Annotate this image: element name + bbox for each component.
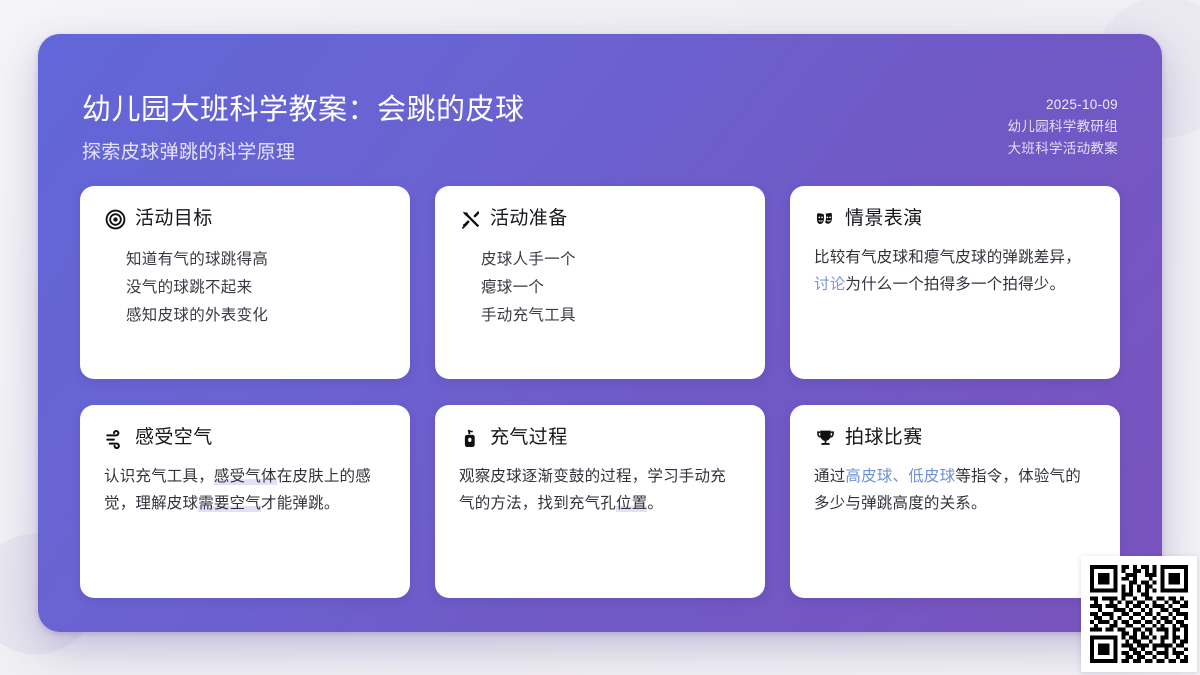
- header-title-block: 幼儿园大班科学教案：会跳的皮球 探索皮球弹跳的科学原理: [82, 78, 525, 164]
- qr-code-panel[interactable]: [1081, 556, 1197, 672]
- meta-organization: 幼儿园科学教研组: [1008, 116, 1118, 138]
- card-header: 情景表演: [814, 208, 1096, 230]
- list-item: 知道有气的球跳得高: [126, 246, 386, 274]
- card-header: 活动目标: [104, 208, 386, 230]
- wind-icon: [104, 427, 126, 449]
- page-title: 幼儿园大班科学教案：会跳的皮球: [82, 92, 525, 128]
- highlighted-phrase: 位置: [616, 495, 647, 512]
- card-list: 皮球人手一个瘪球一个手动充气工具: [459, 246, 741, 331]
- card-body-text: 认识充气工具，感受气体在皮肤上的感觉，理解皮球需要空气才能弹跳。: [104, 464, 386, 517]
- highlighted-phrase: 感受气体: [214, 468, 277, 485]
- card-body-text: 观察皮球逐渐变鼓的过程，学习手动充气的方法，找到充气孔位置。: [459, 464, 741, 517]
- pump-bottle-icon: [459, 427, 481, 449]
- card-body-text: 比较有气皮球和瘪气皮球的弹跳差异，讨论为什么一个拍得多一个拍得少。: [814, 245, 1096, 298]
- card-title: 活动目标: [135, 209, 213, 230]
- slide-header: 幼儿园大班科学教案：会跳的皮球 探索皮球弹跳的科学原理 2025-10-09 幼…: [80, 68, 1120, 186]
- card-body-text: 通过高皮球、低皮球等指令，体验气的多少与弹跳高度的关系。: [814, 464, 1096, 517]
- card-header: 拍球比赛: [814, 427, 1096, 449]
- list-item: 没气的球跳不起来: [126, 274, 386, 302]
- slide-canvas: 幼儿园大班科学教案：会跳的皮球 探索皮球弹跳的科学原理 2025-10-09 幼…: [38, 34, 1162, 632]
- content-card[interactable]: 充气过程观察皮球逐渐变鼓的过程，学习手动充气的方法，找到充气孔位置。: [435, 405, 765, 598]
- card-list: 知道有气的球跳得高没气的球跳不起来感知皮球的外表变化: [104, 246, 386, 331]
- meta-date: 2025-10-09: [1008, 94, 1118, 116]
- trophy-icon: [814, 427, 836, 449]
- text-run: 比较有气皮球和瘪气皮球的弹跳差异，: [814, 249, 1081, 266]
- card-title: 感受空气: [135, 428, 213, 449]
- card-title: 拍球比赛: [845, 428, 923, 449]
- text-run: 认识充气工具，: [104, 468, 214, 485]
- qr-code-icon: [1090, 565, 1188, 663]
- card-grid: 活动目标知道有气的球跳得高没气的球跳不起来感知皮球的外表变化活动准备皮球人手一个…: [80, 186, 1120, 602]
- text-run: 才能弹跳。: [261, 495, 340, 512]
- header-meta-block: 2025-10-09 幼儿园科学教研组 大班科学活动教案: [1008, 78, 1118, 160]
- list-item: 手动充气工具: [481, 302, 741, 330]
- content-card[interactable]: 活动准备皮球人手一个瘪球一个手动充气工具: [435, 186, 765, 379]
- content-card[interactable]: 活动目标知道有气的球跳得高没气的球跳不起来感知皮球的外表变化: [80, 186, 410, 379]
- content-card[interactable]: 拍球比赛通过高皮球、低皮球等指令，体验气的多少与弹跳高度的关系。: [790, 405, 1120, 598]
- theater-masks-icon: [814, 208, 836, 230]
- card-header: 活动准备: [459, 208, 741, 230]
- tools-icon: [459, 208, 481, 230]
- content-card[interactable]: 感受空气认识充气工具，感受气体在皮肤上的感觉，理解皮球需要空气才能弹跳。: [80, 405, 410, 598]
- highlighted-phrase: 讨论: [814, 276, 845, 293]
- card-title: 充气过程: [490, 428, 568, 449]
- card-header: 充气过程: [459, 427, 741, 449]
- content-card[interactable]: 情景表演比较有气皮球和瘪气皮球的弹跳差异，讨论为什么一个拍得多一个拍得少。: [790, 186, 1120, 379]
- list-item: 感知皮球的外表变化: [126, 302, 386, 330]
- text-run: 观察皮球逐渐变鼓的过程，学习手动充气的方法，找到充气孔: [459, 468, 726, 512]
- highlighted-phrase: 需要空气: [198, 495, 261, 512]
- text-run: 。: [647, 495, 663, 512]
- text-run: 通过: [814, 468, 845, 485]
- page-subtitle: 探索皮球弹跳的科学原理: [82, 137, 525, 164]
- text-run: 为什么一个拍得多一个拍得少。: [845, 276, 1065, 293]
- card-title: 活动准备: [490, 209, 568, 230]
- meta-document-type: 大班科学活动教案: [1008, 138, 1118, 160]
- card-title: 情景表演: [845, 209, 923, 230]
- list-item: 皮球人手一个: [481, 246, 741, 274]
- card-header: 感受空气: [104, 427, 386, 449]
- list-item: 瘪球一个: [481, 274, 741, 302]
- highlighted-phrase: 高皮球、低皮球: [845, 468, 955, 485]
- target-icon: [104, 208, 126, 230]
